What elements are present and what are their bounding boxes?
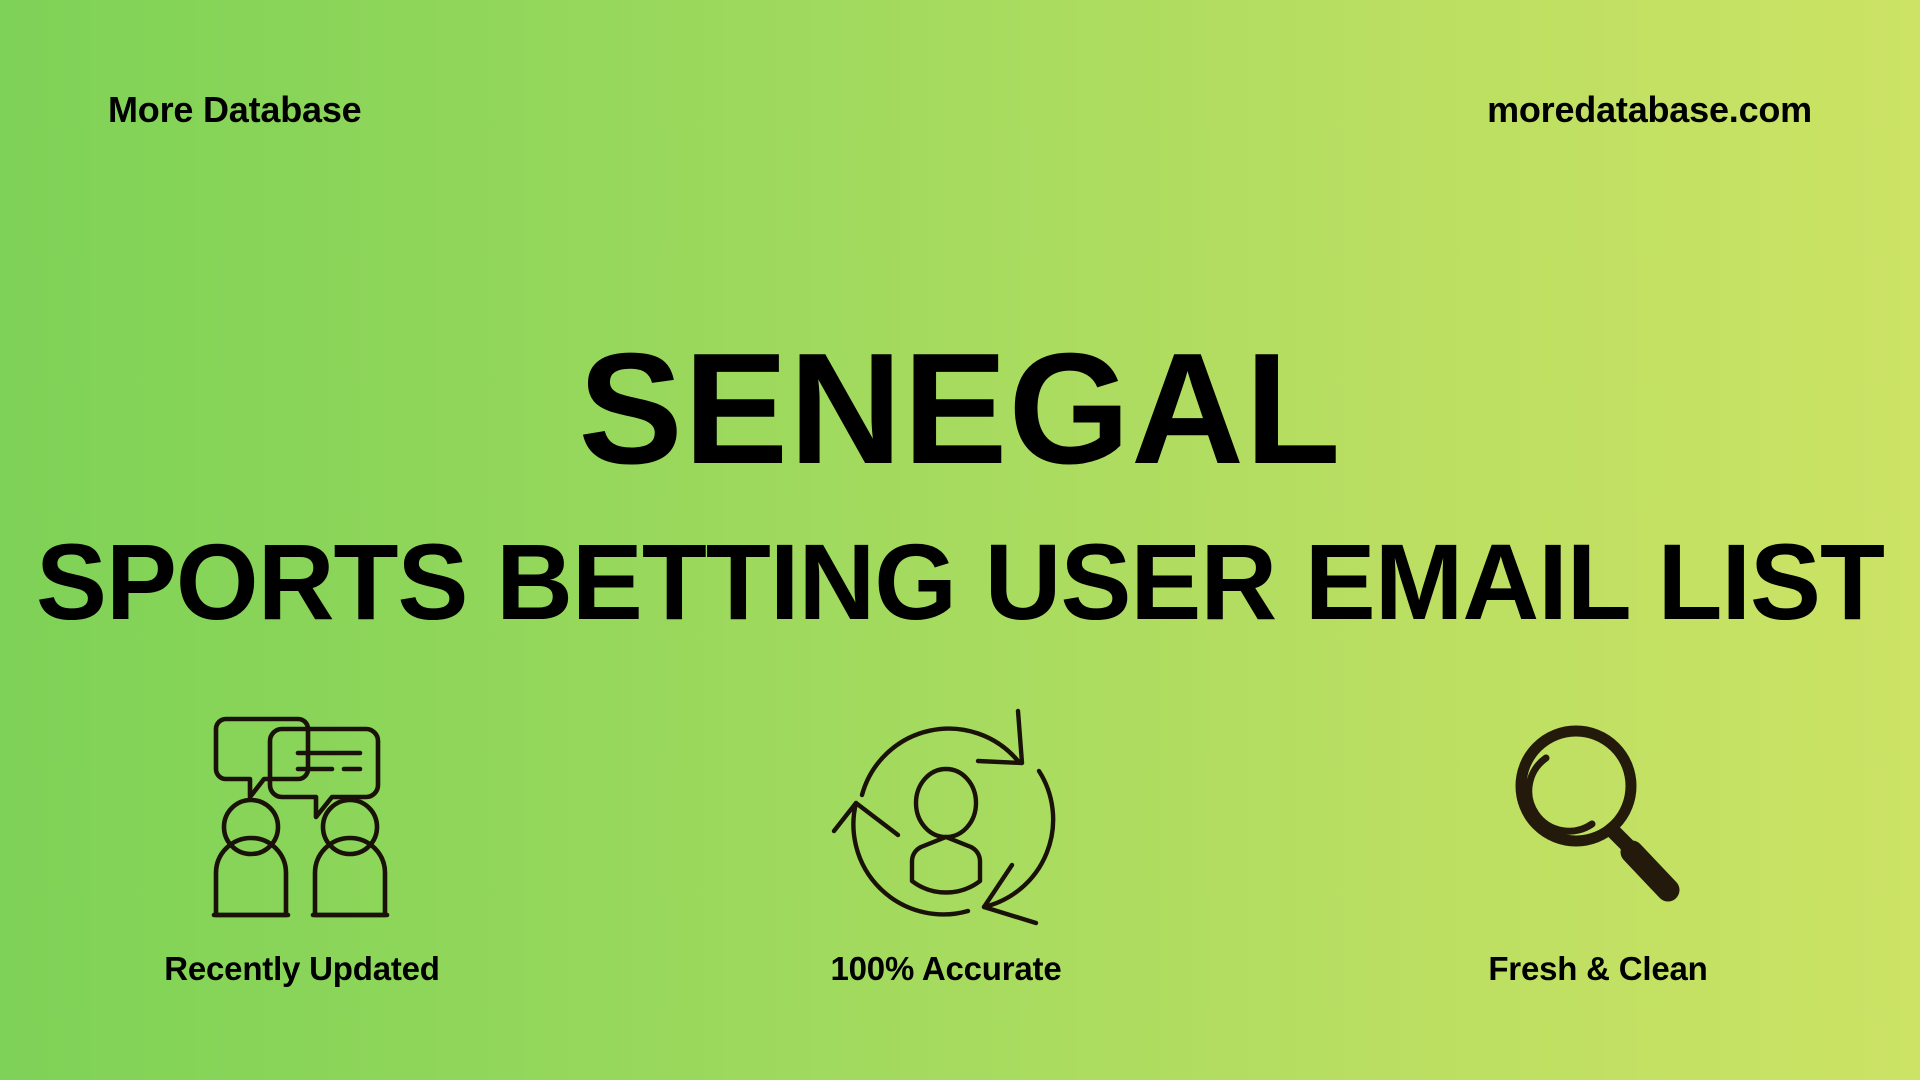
website-url: moredatabase.com xyxy=(1487,92,1812,128)
feature-item-accurate: 100% Accurate xyxy=(624,700,1268,985)
page-title-country: SENEGAL xyxy=(10,330,1911,488)
feature-label: 100% Accurate xyxy=(831,952,1062,985)
feature-row: Recently Updated 1 xyxy=(0,700,1920,1030)
hero-title-block: SENEGAL SPORTS BETTING USER EMAIL LIST xyxy=(0,330,1920,636)
page-subtitle: SPORTS BETTING USER EMAIL LIST xyxy=(14,528,1905,636)
feature-item-recently-updated: Recently Updated xyxy=(0,700,624,985)
people-chat-bubbles-icon xyxy=(204,700,400,930)
brand-name: More Database xyxy=(108,92,362,128)
page-header: More Database moredatabase.com xyxy=(0,92,1920,128)
feature-label: Fresh & Clean xyxy=(1488,952,1707,985)
feature-item-fresh-clean: Fresh & Clean xyxy=(1276,700,1920,985)
magnifying-glass-icon xyxy=(1508,700,1688,930)
feature-label: Recently Updated xyxy=(164,952,440,985)
user-refresh-cycle-icon xyxy=(832,700,1060,930)
